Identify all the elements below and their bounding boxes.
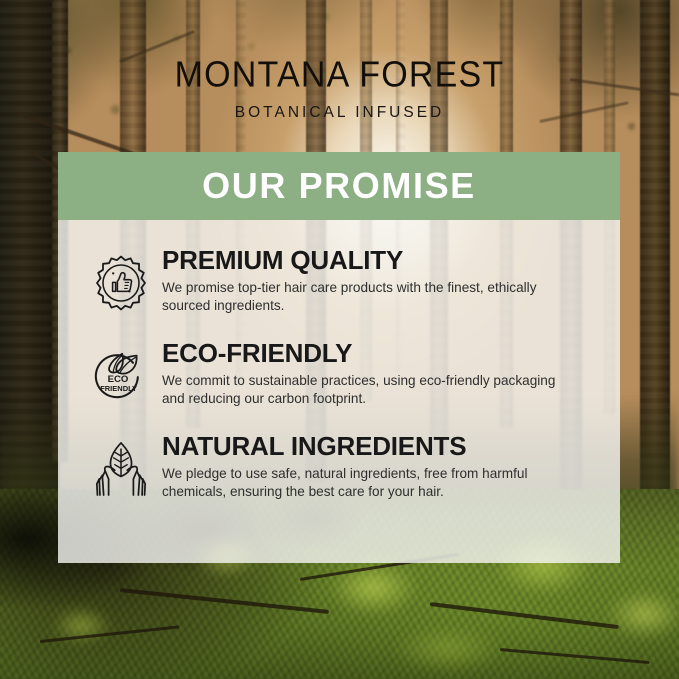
our-promise-card: OUR PROMISE PREMIUM QUAL xyxy=(58,152,620,563)
brand-name: MONTANA FOREST xyxy=(0,57,679,93)
feature-text: ECO-FRIENDLY We commit to sustainable pr… xyxy=(162,339,586,408)
product-infographic: MONTANA FOREST BOTANICAL INFUSED OUR PRO… xyxy=(0,0,679,679)
feature-description: We commit to sustainable practices, usin… xyxy=(162,372,562,407)
card-banner-title: OUR PROMISE xyxy=(202,168,476,204)
feature-description: We pledge to use safe, natural ingredien… xyxy=(162,465,562,500)
eco-friendly-leaf-icon: ECO FRIENDLY xyxy=(88,343,154,409)
feature-item: ECO FRIENDLY ECO-FRIENDLY We commit to s… xyxy=(88,339,586,409)
eco-icon-label-line1: ECO xyxy=(108,374,129,385)
card-banner: OUR PROMISE xyxy=(58,152,620,220)
brand-header: MONTANA FOREST BOTANICAL INFUSED xyxy=(0,58,679,121)
feature-description: We promise top-tier hair care products w… xyxy=(162,279,562,314)
feature-title: ECO-FRIENDLY xyxy=(162,340,586,367)
brand-tagline: BOTANICAL INFUSED xyxy=(0,105,679,121)
feature-list: PREMIUM QUALITY We promise top-tier hair… xyxy=(58,220,620,502)
feature-item: NATURAL INGREDIENTS We pledge to use saf… xyxy=(88,432,586,502)
thumbs-up-badge-icon xyxy=(88,250,154,316)
hands-holding-leaf-icon xyxy=(88,436,154,502)
feature-text: NATURAL INGREDIENTS We pledge to use saf… xyxy=(162,432,586,501)
eco-icon-label-line2: FRIENDLY xyxy=(100,384,137,393)
feature-text: PREMIUM QUALITY We promise top-tier hair… xyxy=(162,246,586,315)
feature-title: PREMIUM QUALITY xyxy=(162,247,586,274)
feature-title: NATURAL INGREDIENTS xyxy=(162,433,586,460)
feature-item: PREMIUM QUALITY We promise top-tier hair… xyxy=(88,246,586,316)
